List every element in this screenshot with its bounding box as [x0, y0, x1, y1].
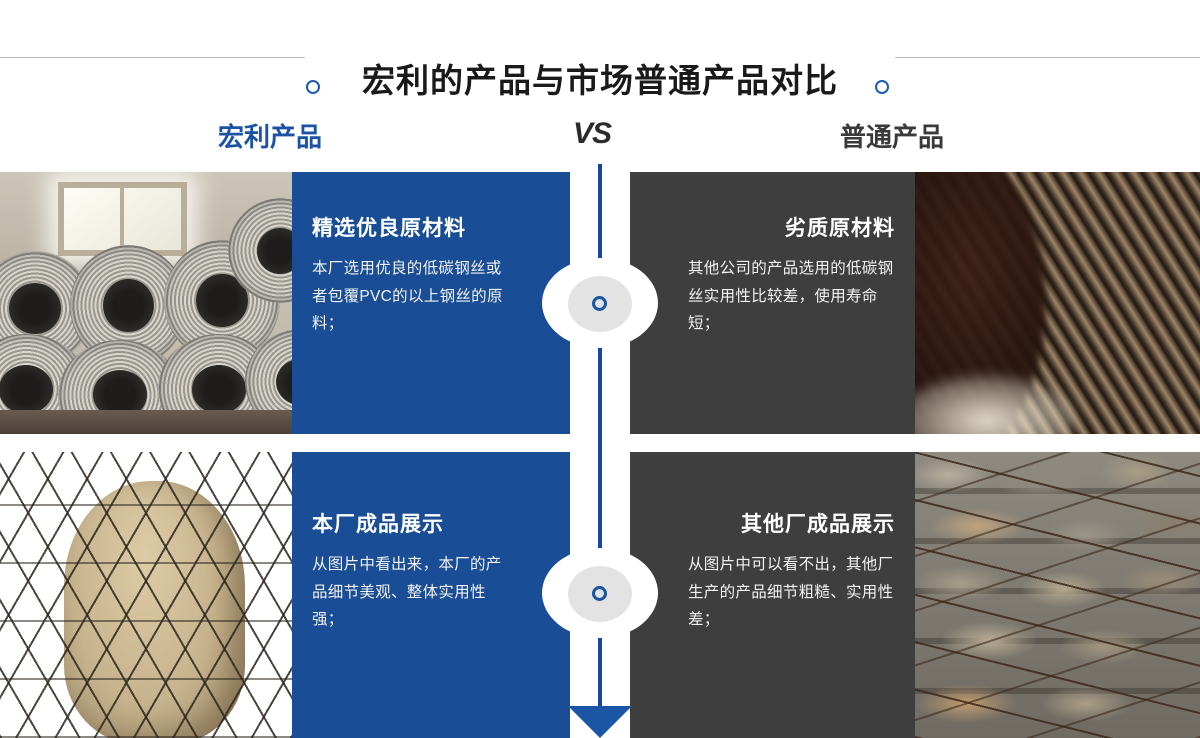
panel-advantage-product: 本厂成品展示 从图片中看出来，本厂的产品细节美观、整体实用性强； [292, 452, 570, 738]
panel-title: 本厂成品展示 [312, 512, 512, 537]
panel-body: 从图片中看出来，本厂的产品细节美观、整体实用性强； [312, 551, 512, 634]
panel-title: 劣质原材料 [688, 216, 895, 241]
column-header-right: 普通产品 [840, 117, 944, 154]
panel-body: 从图片中可以看不出，其他厂生产的产品细节粗糙、实用性差； [688, 551, 895, 634]
panel-body: 本厂选用优良的低碳钢丝或者包覆PVC的以上钢丝的原料； [312, 255, 512, 338]
down-arrow-icon [568, 706, 632, 738]
panel-body: 其他公司的产品选用的低碳钢丝实用性比较差，使用寿命短； [688, 255, 895, 338]
panel-title: 其他厂成品展示 [688, 512, 895, 537]
timeline-node-icon-1 [542, 258, 658, 348]
panel-title: 精选优良原材料 [312, 216, 512, 241]
rough-gabion-stone-wall-photo [915, 452, 1200, 738]
panel-drawback-material: 劣质原材料 其他公司的产品选用的低碳钢丝实用性比较差，使用寿命短； [630, 172, 915, 434]
page-title: 宏利的产品与市场普通产品对比 [0, 54, 1200, 102]
comparison-infographic: 宏利的产品与市场普通产品对比 宏利产品 VS 普通产品 精选优良原材料 [0, 0, 1200, 738]
gabion-mesh-boulder-photo [0, 452, 292, 738]
column-header-left: 宏利产品 [218, 117, 322, 154]
page-title-row: 宏利的产品与市场普通产品对比 [0, 30, 1200, 86]
column-header-vs: VS [573, 117, 611, 151]
panel-drawback-product: 其他厂成品展示 从图片中可以看不出，其他厂生产的产品细节粗糙、实用性差； [630, 452, 915, 738]
timeline-node-icon-2 [542, 548, 658, 638]
panel-advantage-material: 精选优良原材料 本厂选用优良的低碳钢丝或者包覆PVC的以上钢丝的原料； [292, 172, 570, 434]
galvanized-wire-coils-warehouse-photo [0, 172, 292, 434]
rusty-wire-coil-closeup-photo [915, 172, 1200, 434]
